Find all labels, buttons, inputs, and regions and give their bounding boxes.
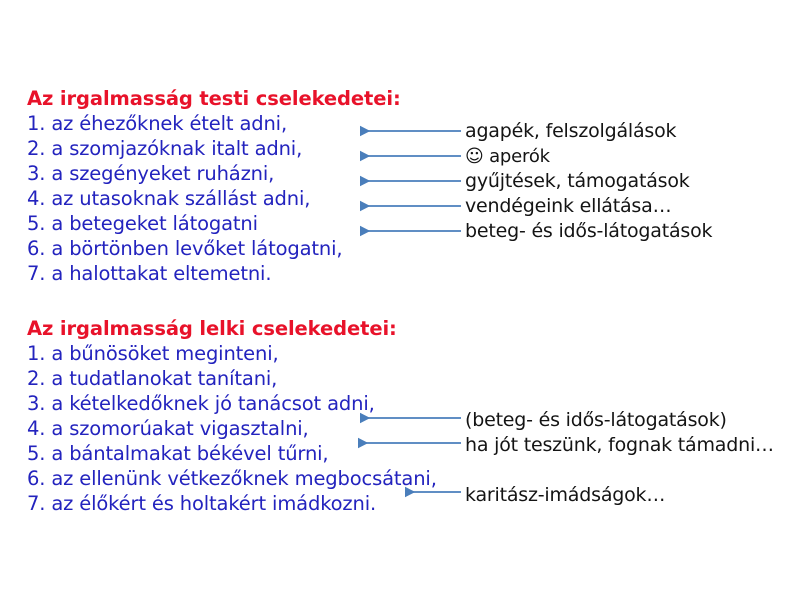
list-item: 2. a tudatlanokat tanítani, [27, 366, 497, 391]
list-item: 6. az ellenünk vétkezőknek megbocsátani, [27, 466, 497, 491]
list-item: 4. a szomorúakat vigasztalni, [27, 416, 497, 441]
annotation-note: karitász-imádságok… [465, 483, 665, 508]
list-item: 2. a szomjazóknak italt adni, [27, 136, 497, 161]
list-corporal-works: 1. az éhezőknek ételt adni, 2. a szomjaz… [27, 111, 497, 286]
list-item: 3. a szegényeket ruházni, [27, 161, 497, 186]
list-item: 1. az éhezőknek ételt adni, [27, 111, 497, 136]
annotation-note: ha jót teszünk, fognak támadni… [465, 433, 774, 458]
annotation-note: ☺ aperók [465, 144, 550, 169]
section-heading-corporal: Az irgalmasság testi cselekedetei: [27, 86, 497, 111]
list-spiritual-works: 1. a bűnösöket meginteni, 2. a tudatlano… [27, 341, 497, 516]
section-spiritual-works: Az irgalmasság lelki cselekedetei: 1. a … [27, 316, 497, 516]
annotation-note: agapék, felszolgálások [465, 119, 676, 144]
list-item: 4. az utasoknak szállást adni, [27, 186, 497, 211]
works-of-mercy-text-block: Az irgalmasság testi cselekedetei: 1. az… [27, 86, 497, 516]
section-corporal-works: Az irgalmasság testi cselekedetei: 1. az… [27, 86, 497, 286]
list-item: 7. a halottakat eltemetni. [27, 261, 497, 286]
annotation-note: beteg- és idős-látogatások [465, 219, 712, 244]
annotation-note: (beteg- és idős-látogatások) [465, 408, 727, 433]
annotation-note: vendégeink ellátása… [465, 194, 671, 219]
list-item: 5. a bántalmakat békével tűrni, [27, 441, 497, 466]
list-item: 1. a bűnösöket meginteni, [27, 341, 497, 366]
list-item: 7. az élőkért és holtakért imádkozni. [27, 491, 497, 516]
section-heading-spiritual: Az irgalmasság lelki cselekedetei: [27, 316, 497, 341]
list-item: 3. a kételkedőknek jó tanácsot adni, [27, 391, 497, 416]
annotation-note: gyűjtések, támogatások [465, 169, 690, 194]
list-item: 5. a betegeket látogatni [27, 211, 497, 236]
slide-canvas: Az irgalmasság testi cselekedetei: 1. az… [0, 0, 800, 600]
list-item: 6. a börtönben levőket látogatni, [27, 236, 497, 261]
